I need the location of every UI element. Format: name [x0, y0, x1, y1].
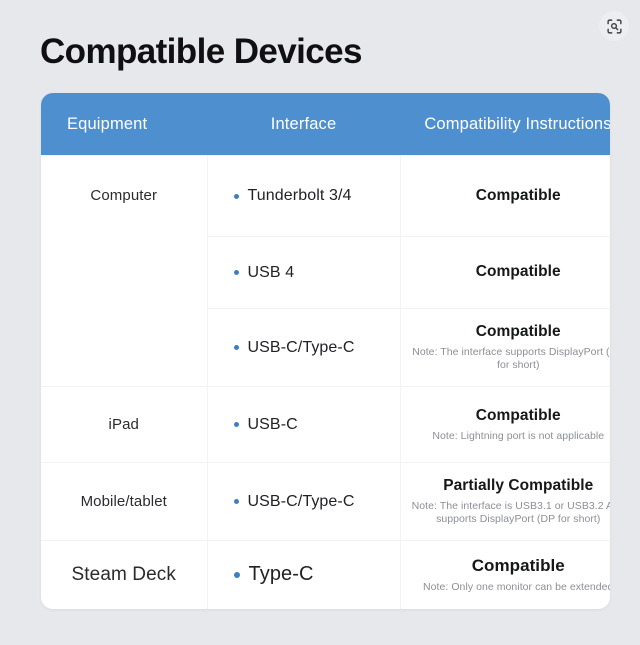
cell-interface: USB-C/Type-C — [207, 309, 400, 387]
bullet-icon — [234, 194, 239, 199]
table-row: Mobile/tablet USB-C/Type-C Partially Com… — [41, 463, 610, 541]
compatibility-table: Equipment Interface Compatibility Instru… — [41, 93, 610, 609]
verdict-note: Note: Lightning port is not applicable — [409, 430, 611, 444]
cell-instructions: Compatible — [400, 237, 610, 309]
interface-item: USB-C/Type-C — [216, 339, 392, 357]
table-row: iPad USB-C Compatible Note: Lightning po… — [41, 387, 610, 463]
bullet-icon — [234, 572, 240, 578]
cell-equipment-continued — [41, 237, 207, 309]
column-header-equipment: Equipment — [41, 93, 207, 156]
table-header-row: Equipment Interface Compatibility Instru… — [41, 93, 610, 156]
bullet-icon — [234, 499, 239, 504]
verdict-label: Compatible — [409, 262, 611, 283]
cell-instructions: Compatible Note: The interface supports … — [400, 309, 610, 387]
cell-interface: USB-C — [207, 387, 400, 463]
cell-equipment: Steam Deck — [41, 541, 207, 609]
cell-interface: Type-C — [207, 541, 400, 609]
cell-interface: USB 4 — [207, 237, 400, 309]
equipment-label: Computer — [90, 187, 157, 204]
table-row: Steam Deck Type-C Compatible Note: Only … — [41, 541, 610, 609]
equipment-label: Steam Deck — [72, 564, 176, 585]
bullet-icon — [234, 422, 239, 427]
equipment-label: iPad — [109, 416, 139, 433]
verdict-note: Note: Only one monitor can be extended — [409, 581, 611, 595]
cell-equipment: Computer — [41, 156, 207, 237]
interface-label: Tunderbolt 3/4 — [248, 187, 352, 205]
interface-item: USB 4 — [216, 264, 392, 282]
interface-label: USB-C/Type-C — [248, 339, 355, 357]
verdict-label: Compatible — [409, 186, 611, 207]
table-row: USB 4 Compatible — [41, 237, 610, 309]
interface-item: USB-C/Type-C — [216, 493, 392, 511]
column-header-interface: Interface — [207, 93, 400, 156]
cell-instructions: Compatible Note: Only one monitor can be… — [400, 541, 610, 609]
cell-instructions: Compatible — [400, 156, 610, 237]
equipment-label: Mobile/tablet — [81, 493, 167, 510]
lens-scan-button[interactable] — [599, 11, 629, 41]
cell-equipment: Mobile/tablet — [41, 463, 207, 541]
interface-item: Type-C — [216, 563, 392, 586]
compatibility-table-card: Equipment Interface Compatibility Instru… — [41, 93, 610, 609]
cell-instructions: Partially Compatible Note: The interface… — [400, 463, 610, 541]
verdict-note: Note: The interface is USB3.1 or USB3.2 … — [409, 500, 611, 528]
verdict-label: Compatible — [409, 322, 611, 343]
cell-equipment-continued — [41, 309, 207, 387]
cell-interface: Tunderbolt 3/4 — [207, 156, 400, 237]
interface-item: Tunderbolt 3/4 — [216, 187, 392, 205]
cell-instructions: Compatible Note: Lightning port is not a… — [400, 387, 610, 463]
interface-label: Type-C — [249, 563, 314, 586]
interface-label: USB-C — [248, 416, 298, 434]
bullet-icon — [234, 270, 239, 275]
lens-scan-icon — [606, 18, 623, 35]
interface-label: USB 4 — [248, 264, 295, 282]
bullet-icon — [234, 345, 239, 350]
cell-equipment: iPad — [41, 387, 207, 463]
table-row: USB-C/Type-C Compatible Note: The interf… — [41, 309, 610, 387]
verdict-label: Compatible — [409, 406, 611, 427]
cell-interface: USB-C/Type-C — [207, 463, 400, 541]
interface-label: USB-C/Type-C — [248, 493, 355, 511]
verdict-note: Note: The interface supports DisplayPort… — [409, 346, 611, 374]
table-row: Computer Tunderbolt 3/4 Compatible — [41, 156, 610, 237]
interface-item: USB-C — [216, 416, 392, 434]
page-title: Compatible Devices — [40, 33, 362, 72]
page-root: { "header": { "title": "Compatible Devic… — [0, 0, 640, 645]
verdict-label: Partially Compatible — [409, 476, 611, 497]
verdict-label: Compatible — [409, 555, 611, 578]
column-header-instructions: Compatibility Instructions — [400, 93, 610, 156]
